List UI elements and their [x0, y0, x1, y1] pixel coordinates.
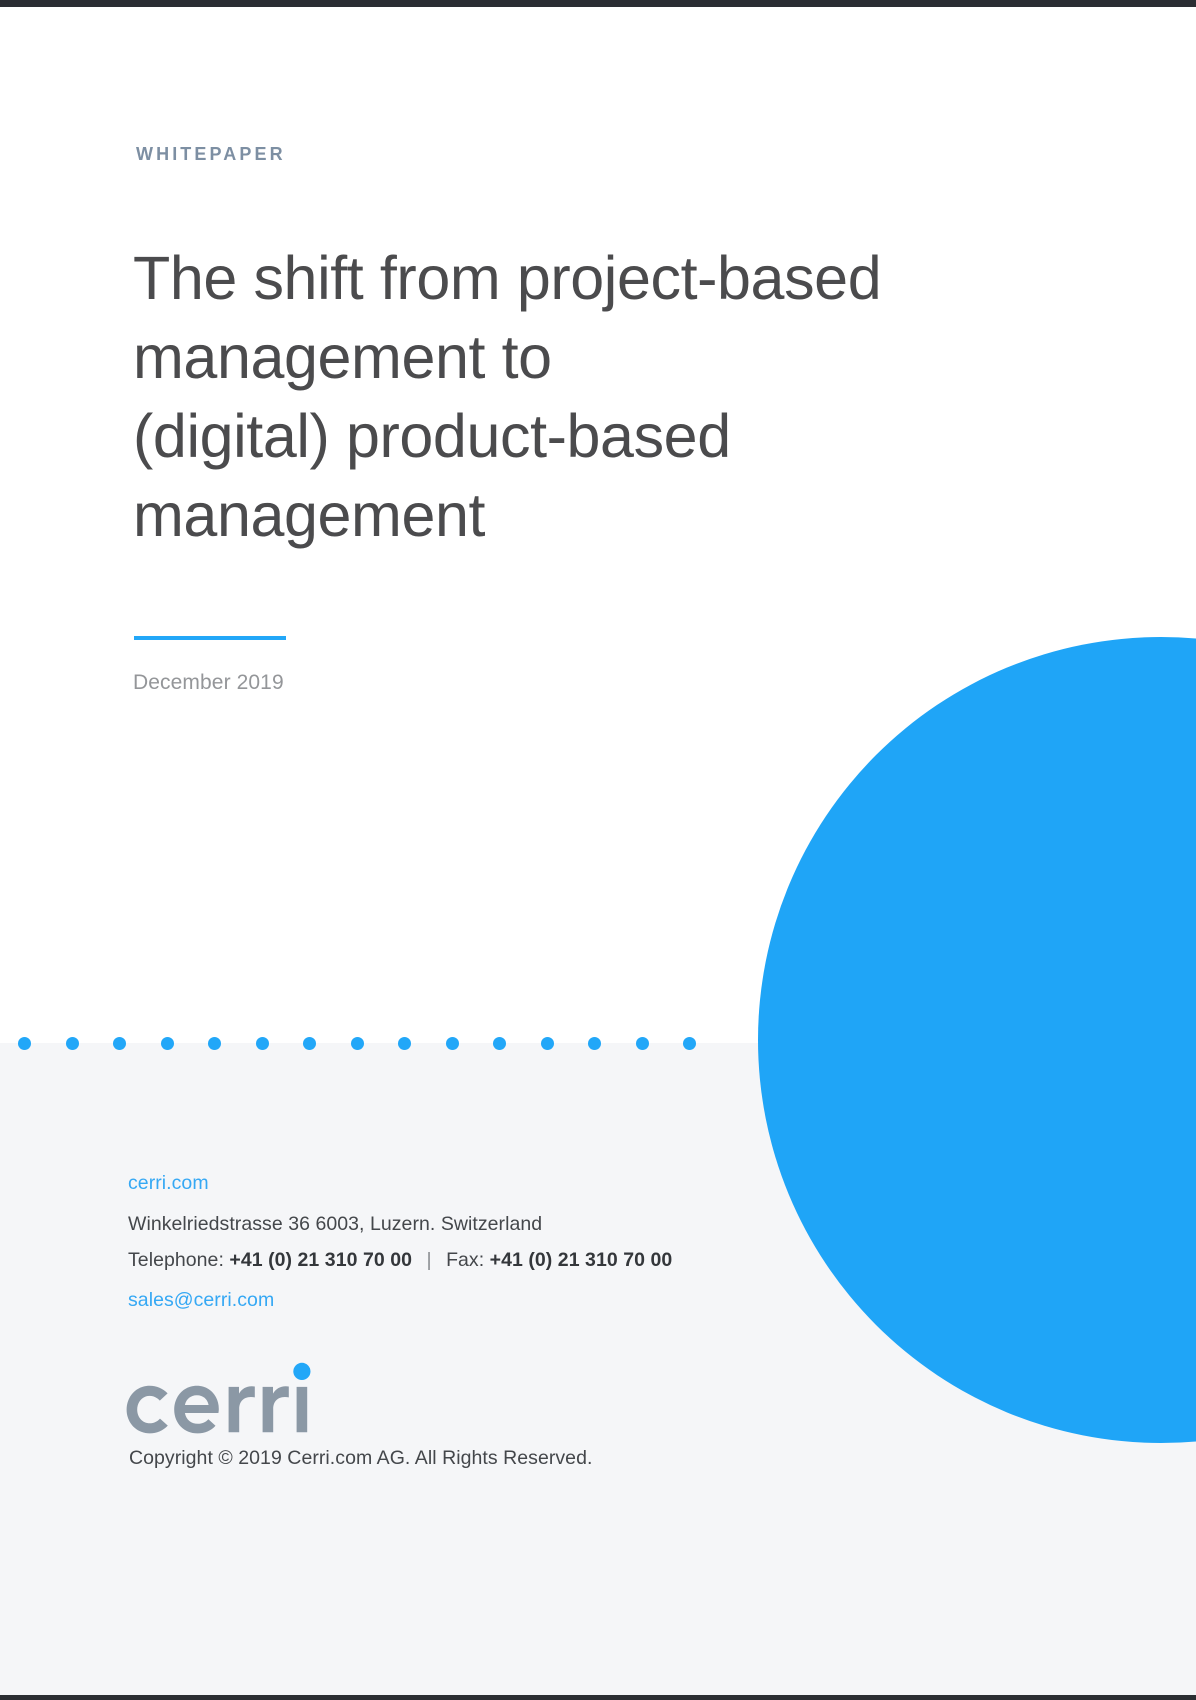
divider-dot: [588, 1037, 601, 1050]
whitepaper-cover-page: WHITEPAPER The shift from project-based …: [0, 7, 1196, 1695]
title-line-1: The shift from project-based: [133, 239, 1063, 318]
divider-dot: [18, 1037, 31, 1050]
divider-dot: [636, 1037, 649, 1050]
postal-address: Winkelriedstrasse 36 6003, Luzern. Switz…: [128, 1206, 768, 1242]
page-title: The shift from project-based management …: [133, 239, 1063, 555]
dotted-divider-decoration: [0, 1035, 760, 1053]
website-line: cerri.com: [128, 1165, 768, 1201]
viewer-chrome-top: [0, 0, 1196, 7]
divider-dot: [113, 1037, 126, 1050]
divider-dot: [446, 1037, 459, 1050]
contact-block: cerri.com Winkelriedstrasse 36 6003, Luz…: [128, 1165, 768, 1318]
divider-dot: [303, 1037, 316, 1050]
divider-dot: [493, 1037, 506, 1050]
divider-dot: [66, 1037, 79, 1050]
field-separator: |: [417, 1249, 440, 1271]
viewer-chrome-bottom: [0, 1695, 1196, 1700]
divider-dot: [351, 1037, 364, 1050]
divider-dot: [256, 1037, 269, 1050]
cerri-logo-mark: [126, 1362, 336, 1440]
phone-fax-line: Telephone: +41 (0) 21 310 70 00 | Fax: +…: [128, 1242, 768, 1278]
divider-dot: [161, 1037, 174, 1050]
divider-dot: [398, 1037, 411, 1050]
document-type-label: WHITEPAPER: [136, 144, 286, 165]
fax-label: Fax:: [446, 1249, 484, 1271]
divider-dot: [683, 1037, 696, 1050]
fax-number: +41 (0) 21 310 70 00: [490, 1249, 673, 1271]
website-link[interactable]: cerri.com: [128, 1172, 209, 1194]
telephone-label: Telephone:: [128, 1249, 224, 1271]
accent-rule-divider: [134, 636, 286, 640]
telephone-number: +41 (0) 21 310 70 00: [229, 1249, 412, 1271]
email-link[interactable]: sales@cerri.com: [128, 1289, 274, 1311]
email-line: sales@cerri.com: [128, 1282, 768, 1318]
title-line-3: (digital) product-based: [133, 397, 1063, 476]
logo-accent-dot: [293, 1363, 310, 1380]
divider-dot: [208, 1037, 221, 1050]
divider-dot: [541, 1037, 554, 1050]
title-line-2: management to: [133, 318, 1063, 397]
cerri-logo: [126, 1362, 336, 1440]
document-viewer: WHITEPAPER The shift from project-based …: [0, 0, 1196, 1700]
copyright-notice: Copyright © 2019 Cerri.com AG. All Right…: [129, 1447, 592, 1470]
publication-date: December 2019: [133, 671, 284, 695]
title-line-4: management: [133, 476, 1063, 555]
